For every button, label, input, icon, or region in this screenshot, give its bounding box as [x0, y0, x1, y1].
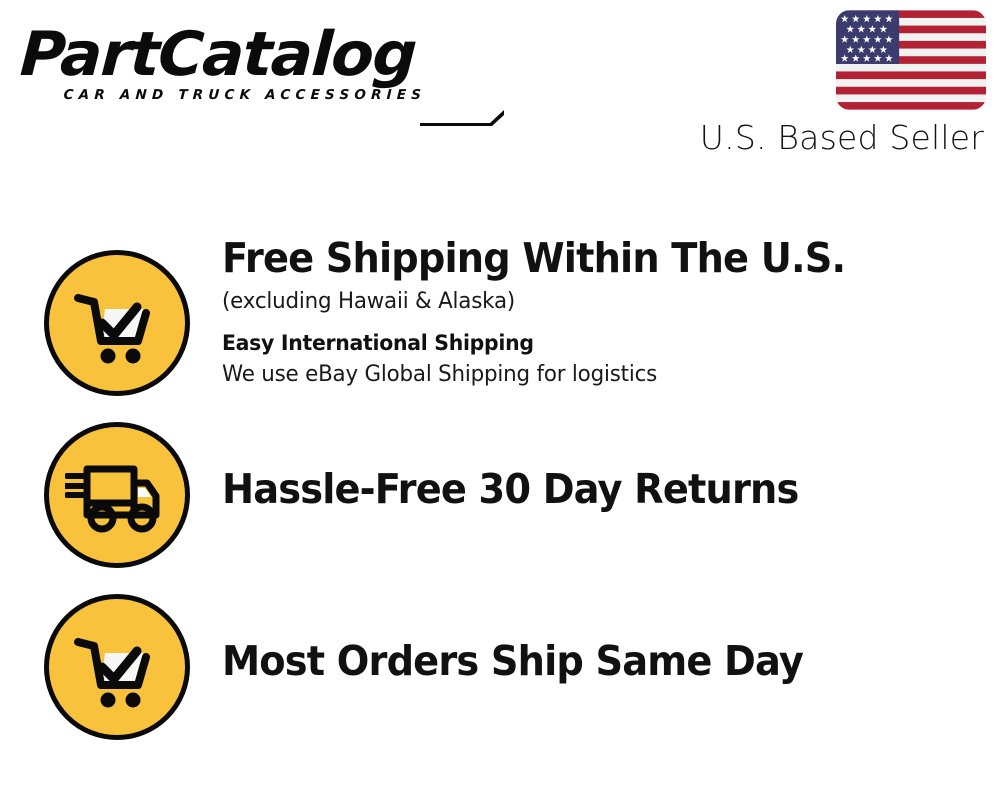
feature-subline-detail: We use eBay Global Shipping for logistic… — [222, 360, 944, 389]
feature-subline-strong: Easy International Shipping — [222, 330, 944, 358]
shopping-cart-check-icon — [65, 615, 169, 719]
us-based-seller-badge: U.S. Based Seller — [696, 10, 986, 156]
delivery-truck-badge — [44, 422, 190, 568]
shopping-cart-check-icon — [65, 271, 169, 375]
brand-logo[interactable]: PartCatalog CAR AND TRUCK ACCESSORIES — [22, 24, 492, 124]
feature-headline: Free Shipping Within The U.S. — [222, 236, 933, 282]
feature-headline: Hassle-Free 30 Day Returns — [222, 467, 933, 513]
delivery-truck-icon — [65, 443, 169, 547]
us-flag-wrapper — [836, 10, 986, 110]
feature-row-same-day-shipping: Most Orders Ship Same Day — [0, 576, 1000, 748]
feature-text-same-day-shipping: Most Orders Ship Same Day — [222, 576, 982, 748]
brand-wordmark: PartCatalog — [19, 24, 502, 85]
page-header: PartCatalog CAR AND TRUCK ACCESSORIES — [0, 0, 1000, 175]
feature-headline: Most Orders Ship Same Day — [222, 639, 933, 685]
us-flag-icon — [836, 10, 986, 110]
feature-subline: (excluding Hawaii & Alaska) — [222, 287, 944, 316]
us-based-seller-label: U.S. Based Seller — [696, 121, 984, 156]
feature-text-free-shipping: Free Shipping Within The U.S. (excluding… — [222, 232, 982, 404]
feature-row-returns: Hassle-Free 30 Day Returns — [0, 404, 1000, 576]
logo-underline-swoosh — [420, 110, 504, 126]
feature-row-free-shipping: Free Shipping Within The U.S. (excluding… — [0, 232, 1000, 404]
shopping-cart-check-badge — [44, 250, 190, 396]
brand-tagline: CAR AND TRUCK ACCESSORIES — [63, 87, 492, 103]
shopping-cart-check-badge — [44, 594, 190, 740]
feature-text-returns: Hassle-Free 30 Day Returns — [222, 404, 982, 576]
